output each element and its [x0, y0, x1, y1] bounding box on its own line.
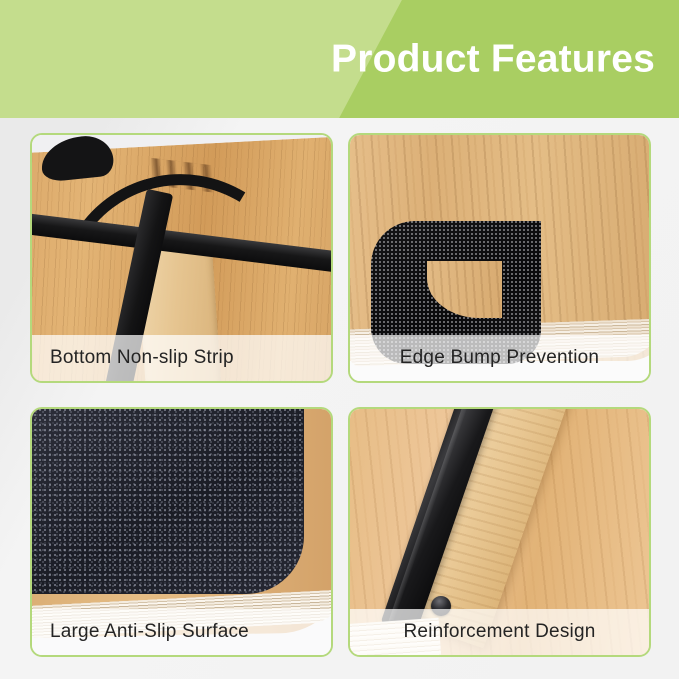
feature-card-grid: Bottom Non-slip Strip Edge Bump Preventi… — [30, 133, 651, 657]
header-banner: Product Features — [0, 0, 679, 118]
caption-large-anti-slip-surface: Large Anti-Slip Surface — [32, 609, 331, 655]
feature-card-large-anti-slip-surface[interactable]: Large Anti-Slip Surface — [30, 407, 333, 657]
caption-reinforcement-design: Reinforcement Design — [350, 609, 649, 655]
caption-edge-bump-prevention: Edge Bump Prevention — [350, 335, 649, 381]
rubber-pad-notch — [427, 261, 502, 318]
feature-card-reinforcement-design[interactable]: Reinforcement Design — [348, 407, 651, 657]
feature-card-edge-bump-prevention[interactable]: Edge Bump Prevention — [348, 133, 651, 383]
caption-bottom-non-slip-strip: Bottom Non-slip Strip — [32, 335, 331, 381]
anti-slip-grip-tape — [32, 409, 304, 594]
corner-rubber-cap — [39, 135, 115, 183]
feature-card-bottom-non-slip-strip[interactable]: Bottom Non-slip Strip — [30, 133, 333, 383]
page-title: Product Features — [331, 40, 655, 79]
